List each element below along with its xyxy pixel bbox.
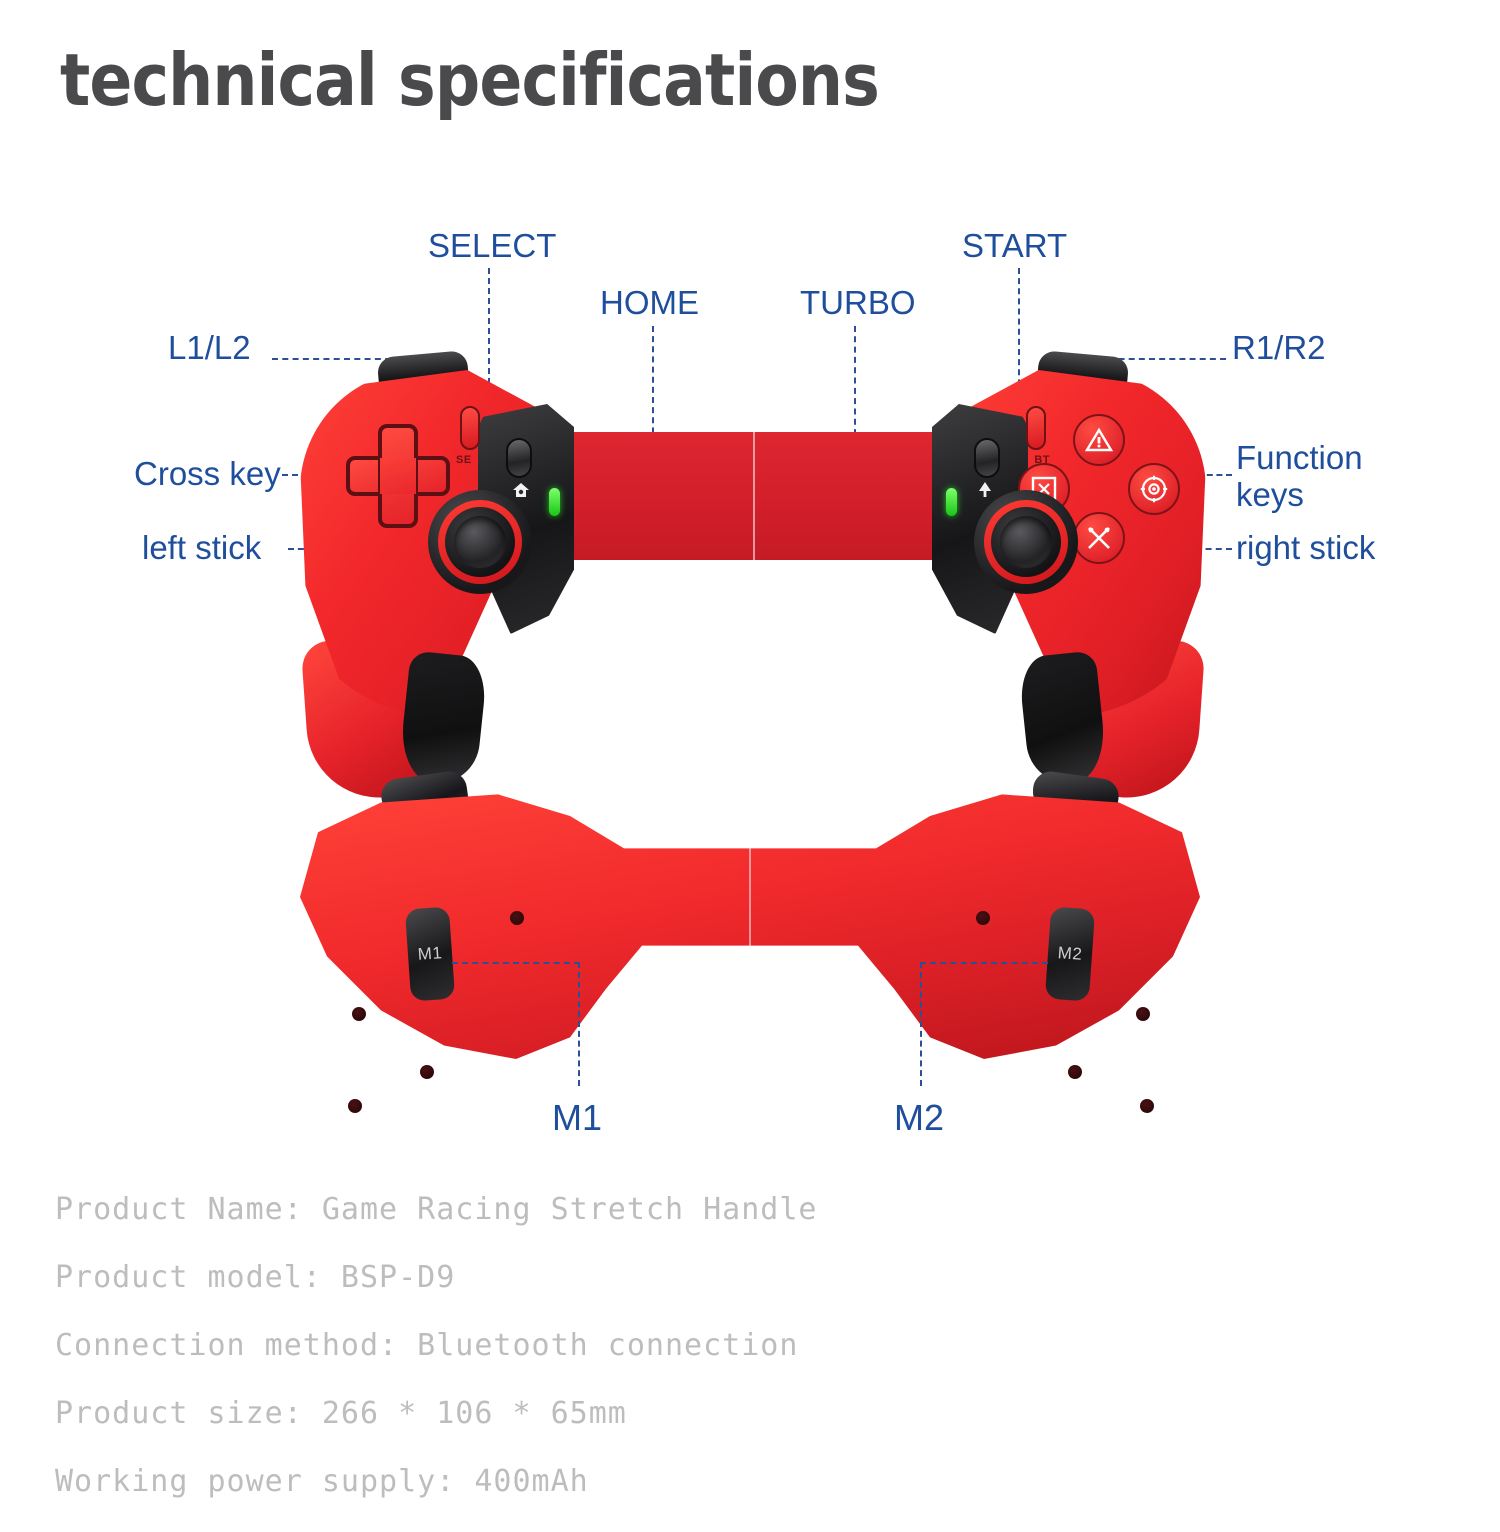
dpad-center <box>380 458 416 494</box>
callout-label-l1l2: L1/L2 <box>168 330 251 367</box>
right-controller-half: BT <box>936 370 1206 718</box>
home-button[interactable] <box>506 438 532 478</box>
screw-hole <box>976 911 990 925</box>
leader-m1-h <box>452 962 580 964</box>
screw-hole <box>348 1099 362 1113</box>
right-stick[interactable] <box>974 490 1078 594</box>
right-horn <box>1017 650 1108 787</box>
callout-label-m2: M2 <box>894 1098 944 1138</box>
m2-paddle-label: M2 <box>1057 943 1083 965</box>
callout-label-start: START <box>962 228 1067 265</box>
leader-m2-v <box>920 962 922 1086</box>
cross-swords-icon <box>1085 524 1113 552</box>
left-stick-cap[interactable] <box>454 516 506 568</box>
callout-label-right-stick: right stick <box>1236 530 1375 567</box>
function-key-triangle[interactable] <box>1073 414 1125 466</box>
status-led-left <box>549 488 560 516</box>
select-button-caption: SE <box>456 454 472 466</box>
specification-list: Product Name: Game Racing Stretch Handle… <box>55 1192 1055 1532</box>
front-view: SE BT <box>300 370 1200 730</box>
right-stick-cap[interactable] <box>1000 516 1052 568</box>
callout-label-cross-key: Cross key <box>134 456 281 493</box>
callout-label-r1r2: R1/R2 <box>1232 330 1326 367</box>
spec-product-name: Product Name: Game Racing Stretch Handle <box>55 1192 1055 1227</box>
spec-connection: Connection method: Bluetooth connection <box>55 1328 1055 1363</box>
status-led-right <box>946 488 957 516</box>
leader-m2-h <box>920 962 1048 964</box>
m2-paddle[interactable]: M2 <box>1045 907 1095 1002</box>
back-view: M1 M2 <box>300 775 1200 1105</box>
page-title: technical specifications <box>60 38 879 122</box>
target-circle-icon <box>1140 475 1168 503</box>
turbo-button[interactable] <box>974 438 1000 478</box>
back-seam <box>749 805 751 1005</box>
function-key-target[interactable] <box>1128 463 1180 515</box>
callout-label-left-stick: left stick <box>142 530 261 567</box>
extension-bridge <box>533 432 973 560</box>
select-button[interactable] <box>460 406 480 450</box>
callout-label-turbo: TURBO <box>800 285 916 322</box>
callout-label-select: SELECT <box>428 228 556 265</box>
screw-hole <box>420 1065 434 1079</box>
m1-paddle-label: M1 <box>417 943 443 965</box>
left-stick[interactable] <box>428 490 532 594</box>
leader-m1-v <box>578 962 580 1086</box>
callout-label-m1: M1 <box>552 1098 602 1138</box>
callout-label-home: HOME <box>600 285 699 322</box>
triangle-icon <box>1085 427 1113 453</box>
left-controller-half: SE <box>300 370 570 718</box>
function-key-cross[interactable] <box>1073 512 1125 564</box>
screw-hole <box>1140 1099 1154 1113</box>
spec-product-size: Product size: 266 * 106 * 65mm <box>55 1396 1055 1431</box>
product-spec-page: technical specifications L1/L2 SELECT HO… <box>0 0 1500 1500</box>
screw-hole <box>352 1007 366 1021</box>
m1-paddle[interactable]: M1 <box>405 907 455 1002</box>
callout-label-function-keys: Function keys <box>1236 440 1406 514</box>
screw-hole <box>1068 1065 1082 1079</box>
spec-power-supply: Working power supply: 400mAh <box>55 1464 1055 1499</box>
bridge-seam <box>753 428 755 564</box>
spec-product-model: Product model: BSP-D9 <box>55 1260 1055 1295</box>
screw-hole <box>1136 1007 1150 1021</box>
left-horn <box>397 650 488 787</box>
screw-hole <box>510 911 524 925</box>
